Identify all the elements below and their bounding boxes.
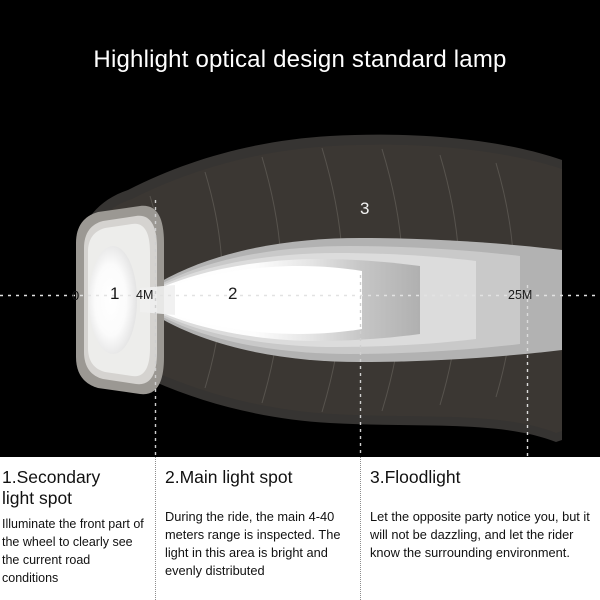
- legend-body-flood: Let the opposite party notice you, but i…: [370, 508, 594, 562]
- legend-panel: 1.Secondary light spot Illuminate the fr…: [0, 457, 600, 600]
- lamp-beam-infographic: Highlight optical design standard lamp: [0, 0, 600, 600]
- legend-title-secondary: 1.Secondary light spot: [2, 467, 149, 508]
- zone-marker-main: 2: [228, 285, 237, 302]
- legend-divider-2: [360, 457, 361, 600]
- zone-marker-secondary: 1: [110, 285, 119, 302]
- legend-divider-1: [155, 457, 156, 600]
- legend-body-secondary: Illuminate the front part of the wheel t…: [2, 516, 149, 587]
- legend-column-flood: 3.Floodlight Let the opposite party noti…: [360, 457, 600, 600]
- beam-illustration: [0, 0, 600, 457]
- axis-label-4m: 4M: [136, 289, 153, 302]
- legend-body-main: During the ride, the main 4-40 meters ra…: [165, 508, 354, 581]
- legend-title-main: 2.Main light spot: [165, 467, 354, 488]
- legend-column-secondary: 1.Secondary light spot Illuminate the fr…: [0, 457, 155, 600]
- legend-column-main: 2.Main light spot During the ride, the m…: [155, 457, 360, 600]
- axis-label-origin: 0: [72, 289, 79, 302]
- legend-title-flood: 3.Floodlight: [370, 467, 594, 488]
- axis-label-25m: 25M: [508, 289, 532, 302]
- beam-diagram: 0 4M 25M 1 2 3: [0, 0, 600, 457]
- zone-marker-flood: 3: [360, 200, 369, 217]
